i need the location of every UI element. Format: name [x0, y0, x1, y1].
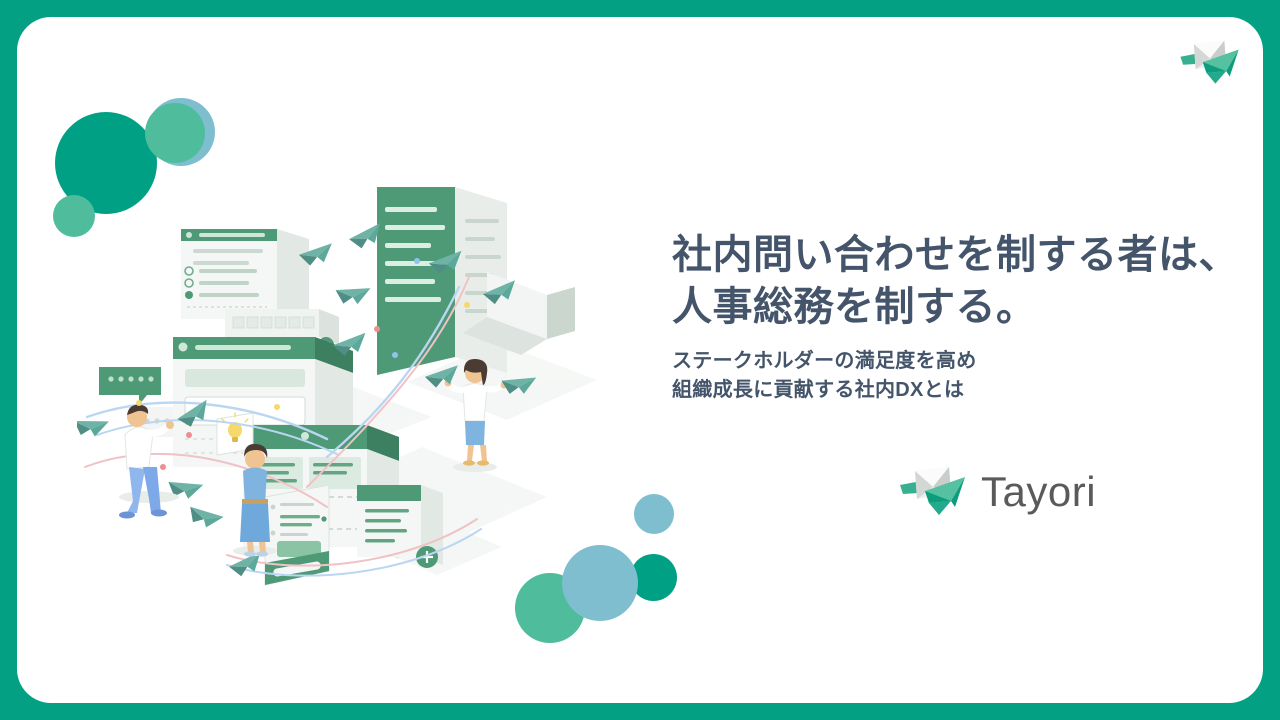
- decor-circle-blue-large: [562, 545, 638, 621]
- decor-circle-teal-mid: [145, 103, 205, 163]
- page-title: 社内問い合わせを制する者は、 人事総務を制する。: [672, 229, 1263, 333]
- slide-canvas: 社内問い合わせを制する者は、 人事総務を制する。 ステークホルダーの満足度を高め…: [17, 17, 1263, 703]
- decor-circle-blue-small: [634, 494, 674, 534]
- mobile-chat-device: [265, 485, 329, 585]
- brand-lockup: Tayori: [899, 463, 1096, 521]
- tayori-logo-icon: [899, 463, 967, 521]
- slide-root: 社内問い合わせを制する者は、 人事総務を制する。 ステークホルダーの満足度を高め…: [0, 0, 1280, 720]
- text-block: 社内問い合わせを制する者は、 人事総務を制する。 ステークホルダーの満足度を高め…: [672, 229, 1263, 405]
- corner-tayori-logo-icon: [1179, 37, 1241, 89]
- page-subtitle: ステークホルダーの満足度を高め 組織成長に貢献する社内DXとは: [672, 347, 1263, 405]
- hero-illustration: [77, 167, 657, 587]
- brand-wordmark: Tayori: [981, 471, 1096, 513]
- ui-card-small-right: [357, 485, 443, 568]
